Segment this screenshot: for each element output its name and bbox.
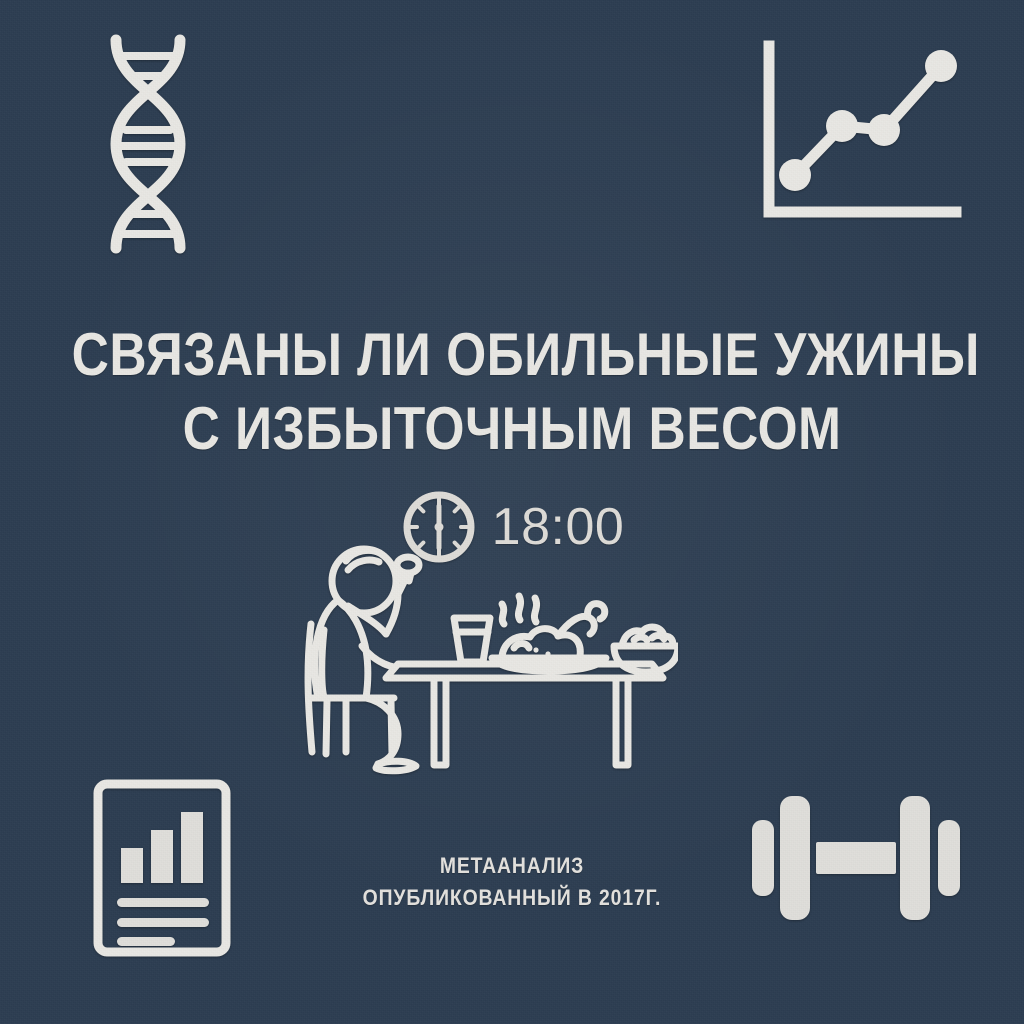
chart-line [795,66,941,175]
table [386,664,663,765]
footer-line-2: ОПУБЛИКОВАННЫЙ В 2017Г. [61,882,962,914]
poster-canvas: СВЯЗАНЫ ЛИ ОБИЛЬНЫЕ УЖИНЫ С ИЗБЫТОЧНЫМ В… [0,0,1024,1024]
poster-footer: МЕТААНАЛИЗ ОПУБЛИКОВАННЫЙ В 2017Г. [0,850,1024,914]
poster-title: СВЯЗАНЫ ЛИ ОБИЛЬНЫЕ УЖИНЫ С ИЗБЫТОЧНЫМ В… [0,318,1024,466]
chart-markers [779,50,957,191]
chair [308,624,394,754]
person-eating-dinner-illustration [286,538,678,810]
dna-helix-icon [96,34,200,254]
seated-person [315,549,419,771]
title-line-2: С ИЗБЫТОЧНЫМ ВЕСОМ [72,392,953,466]
line-chart-icon [756,40,964,236]
footer-line-1: МЕТААНАЛИЗ [61,850,962,882]
title-line-1: СВЯЗАНЫ ЛИ ОБИЛЬНЫЕ УЖИНЫ [72,318,953,392]
